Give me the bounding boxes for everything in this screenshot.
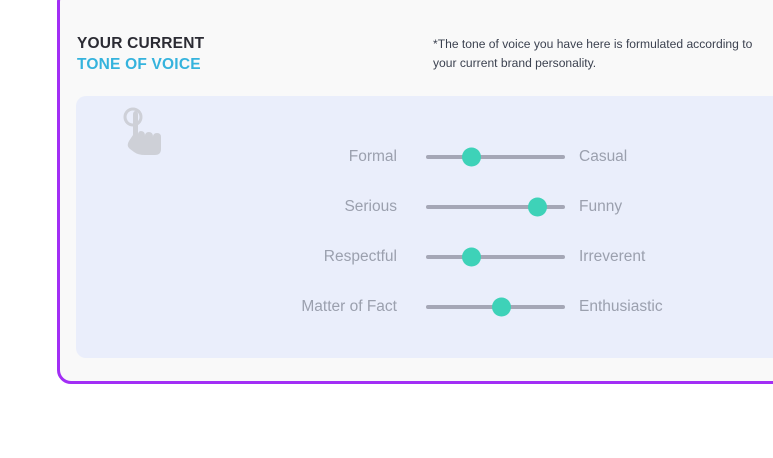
- slider-list: Formal Casual Serious Funny Respectful: [76, 132, 773, 332]
- slider-label-left: Respectful: [324, 248, 397, 266]
- header-note-line-2: your current brand personality.: [433, 54, 773, 73]
- header-note-line-1: *The tone of voice you have here is form…: [433, 35, 773, 54]
- slider-label-left: Formal: [349, 148, 397, 166]
- slider-track: [426, 155, 565, 159]
- tone-slider-formal-casual[interactable]: [426, 146, 565, 168]
- tone-of-voice-card: YOUR CURRENT TONE OF VOICE *The tone of …: [57, 0, 773, 384]
- header-note: *The tone of voice you have here is form…: [433, 35, 773, 73]
- slider-row: Matter of Fact Enthusiastic: [76, 282, 773, 332]
- slider-track: [426, 255, 565, 259]
- slider-thumb[interactable]: [462, 248, 481, 267]
- tone-slider-panel: Formal Casual Serious Funny Respectful: [76, 96, 773, 358]
- slider-label-left: Matter of Fact: [301, 298, 397, 316]
- tone-slider-respectful-irreverent[interactable]: [426, 246, 565, 268]
- page-title: YOUR CURRENT TONE OF VOICE: [77, 34, 204, 75]
- slider-row: Respectful Irreverent: [76, 232, 773, 282]
- page-title-line-2: TONE OF VOICE: [77, 55, 204, 76]
- slider-thumb[interactable]: [492, 298, 511, 317]
- slider-label-right: Funny: [579, 198, 622, 216]
- tone-slider-matteroffact-enthusiastic[interactable]: [426, 296, 565, 318]
- slider-label-right: Casual: [579, 148, 627, 166]
- slider-thumb[interactable]: [528, 198, 547, 217]
- slider-row: Formal Casual: [76, 132, 773, 182]
- slider-label-left: Serious: [344, 198, 397, 216]
- tone-slider-serious-funny[interactable]: [426, 196, 565, 218]
- slider-row: Serious Funny: [76, 182, 773, 232]
- slider-label-right: Irreverent: [579, 248, 645, 266]
- page-title-line-1: YOUR CURRENT: [77, 34, 204, 55]
- slider-label-right: Enthusiastic: [579, 298, 663, 316]
- slider-thumb[interactable]: [462, 148, 481, 167]
